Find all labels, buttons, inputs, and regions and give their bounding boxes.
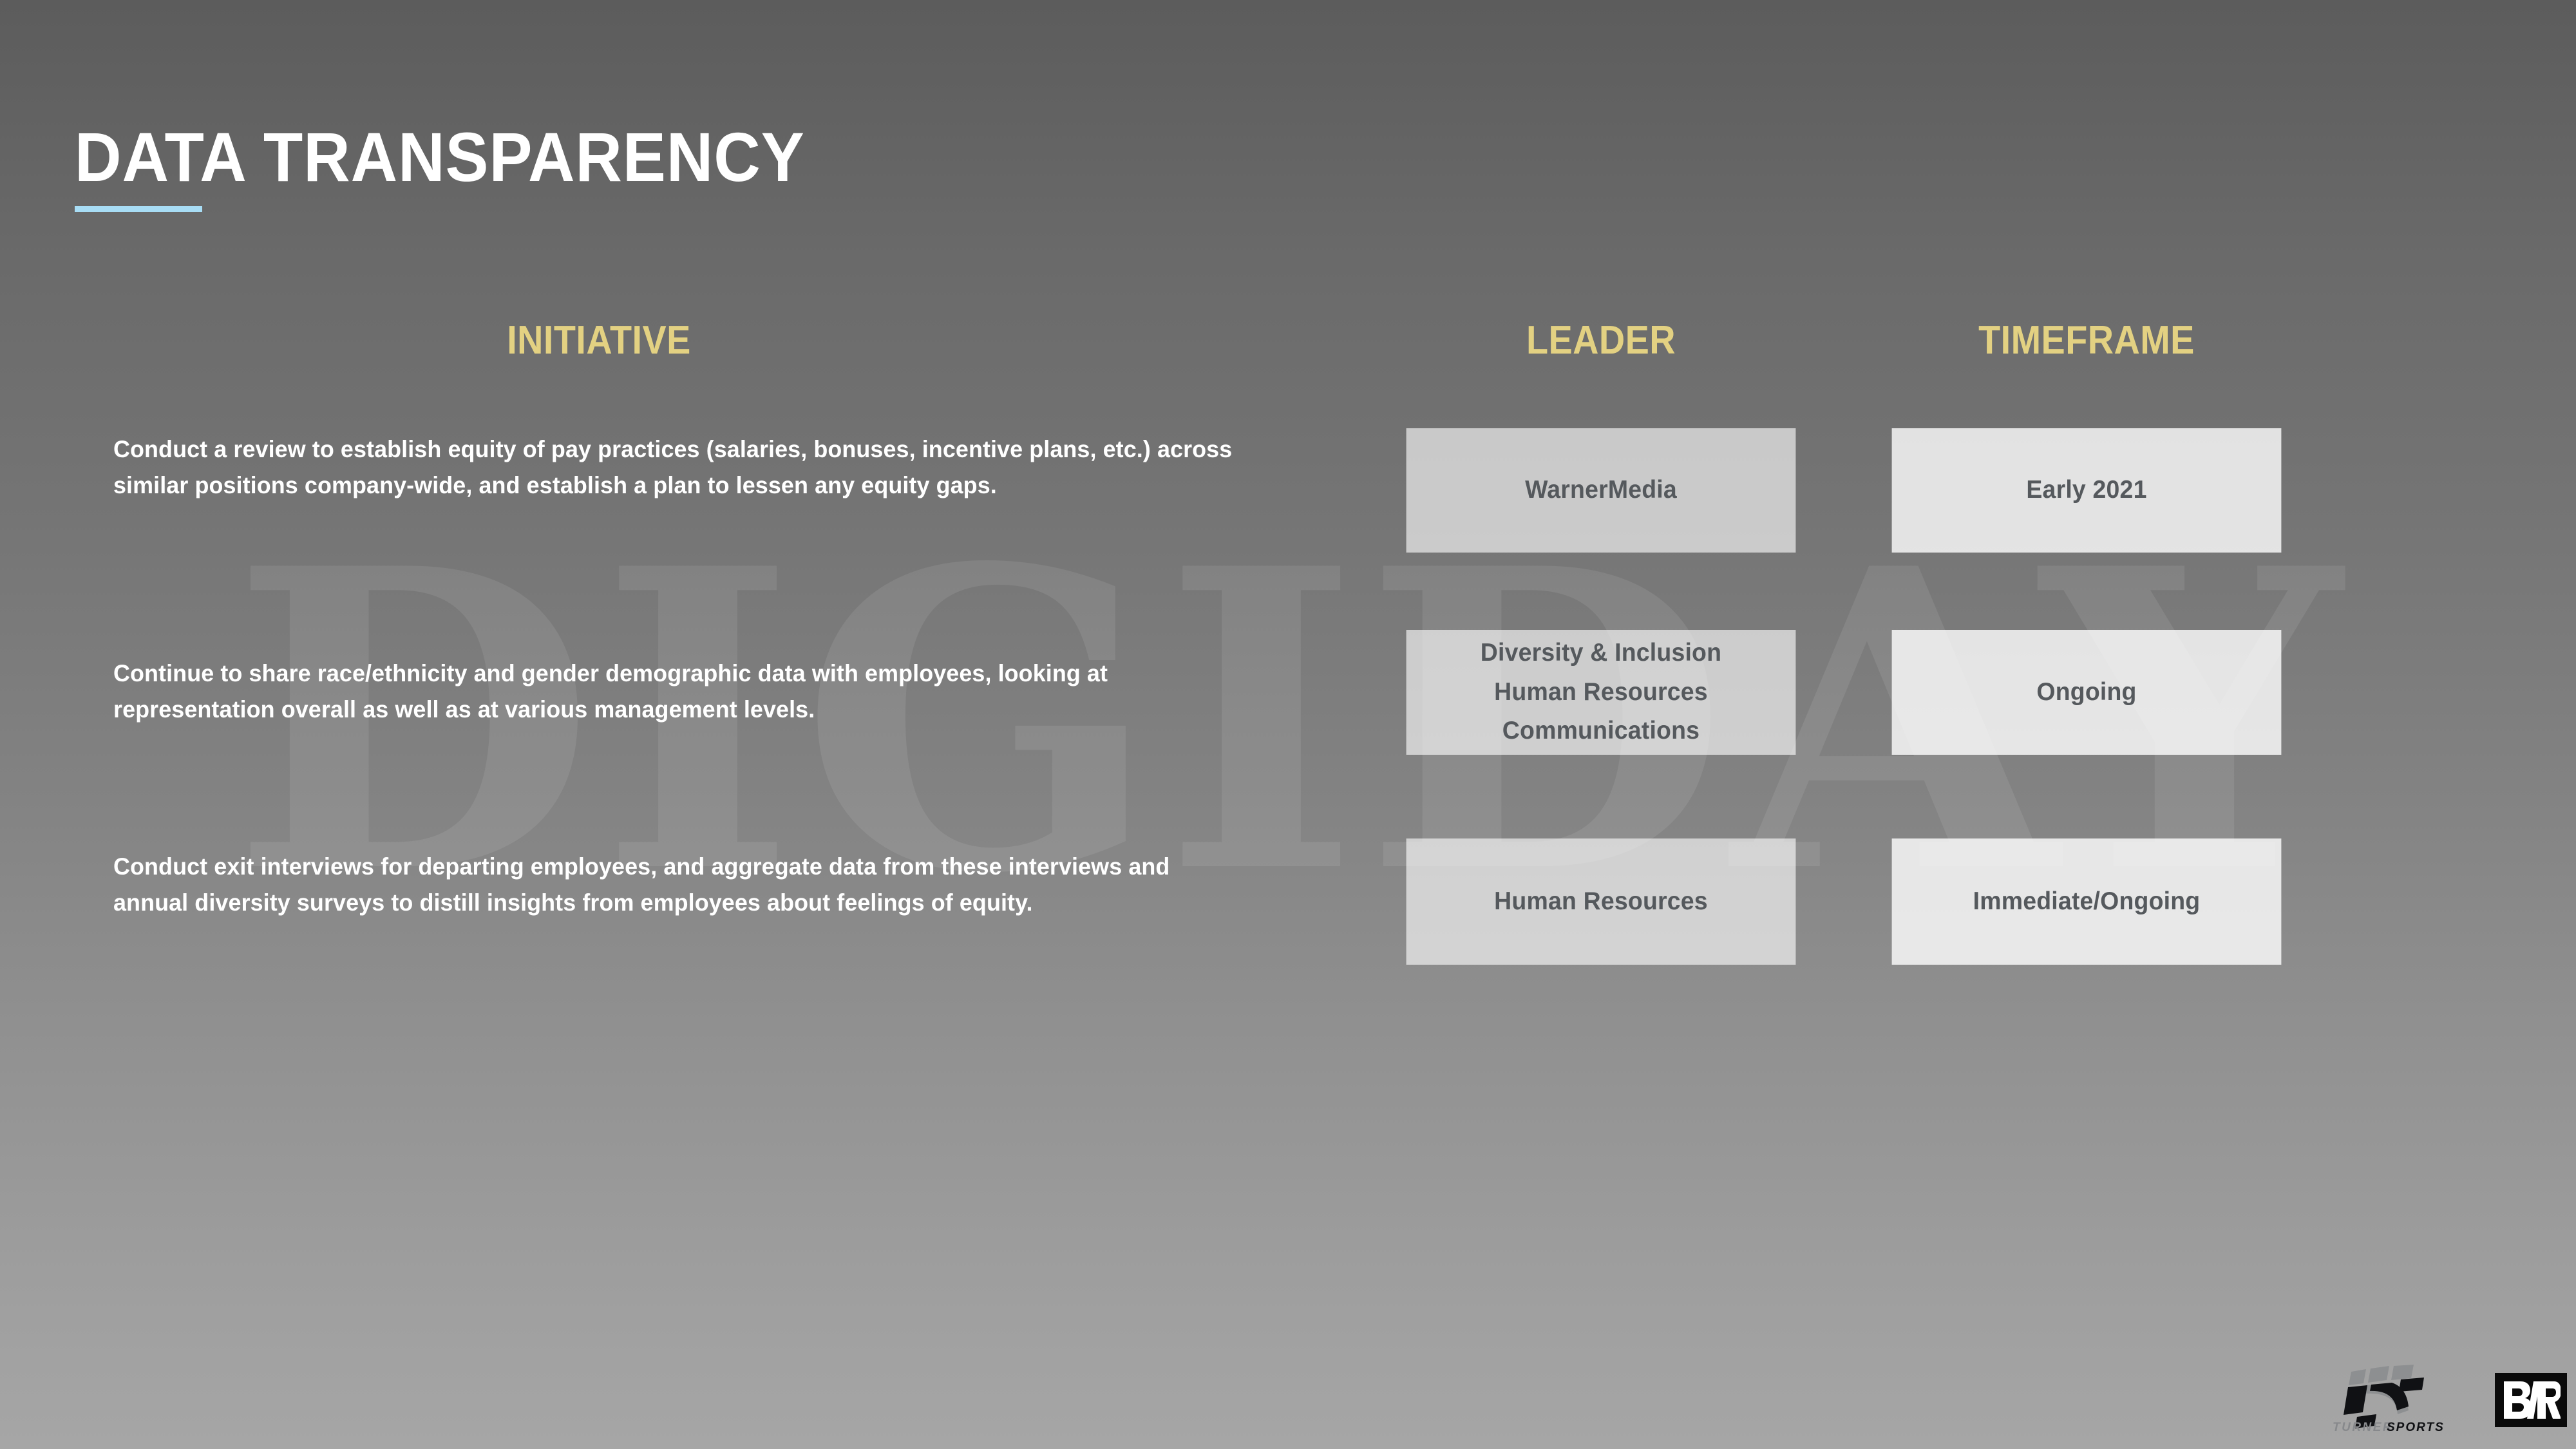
svg-text:SPORTS: SPORTS [2387,1421,2445,1434]
bleacher-report-logo-icon [2495,1373,2567,1427]
leader-line: Human Resources [1481,673,1721,712]
initiative-text: Continue to share race/ethnicity and gen… [113,656,1238,728]
title-underline-accent [75,206,202,212]
timeframe-cell: Early 2021 [1892,428,2282,553]
leader-cell: WarnerMedia [1406,428,1796,553]
svg-text:TURNER: TURNER [2333,1421,2393,1434]
turner-sports-logo-icon: TURNER SPORTS [2330,1364,2465,1436]
leader-line: WarnerMedia [1525,471,1677,509]
leader-line: Communications [1481,712,1721,750]
initiative-text: Conduct a review to establish equity of … [113,431,1238,504]
column-header-leader: LEADER [1419,321,1784,361]
slide: DIGIDAY DATA TRANSPARENCY INITIATIVE LEA… [0,0,2576,1449]
title-block: DATA TRANSPARENCY [75,122,860,212]
timeframe-cell: Ongoing [1892,630,2282,755]
initiative-text: Conduct exit interviews for departing em… [113,849,1238,921]
column-header-initiative: INITIATIVE [280,321,918,361]
leader-cell: Human Resources [1406,838,1796,965]
leader-cell: Diversity & Inclusion Human Resources Co… [1406,630,1796,755]
leader-line: Human Resources [1494,882,1708,921]
page-title: DATA TRANSPARENCY [75,122,805,192]
leader-line: Diversity & Inclusion [1481,634,1721,672]
logo-bar: TURNER SPORTS [2330,1364,2576,1436]
timeframe-cell: Immediate/Ongoing [1892,838,2282,965]
column-header-timeframe: TIMEFRAME [1904,321,2269,361]
